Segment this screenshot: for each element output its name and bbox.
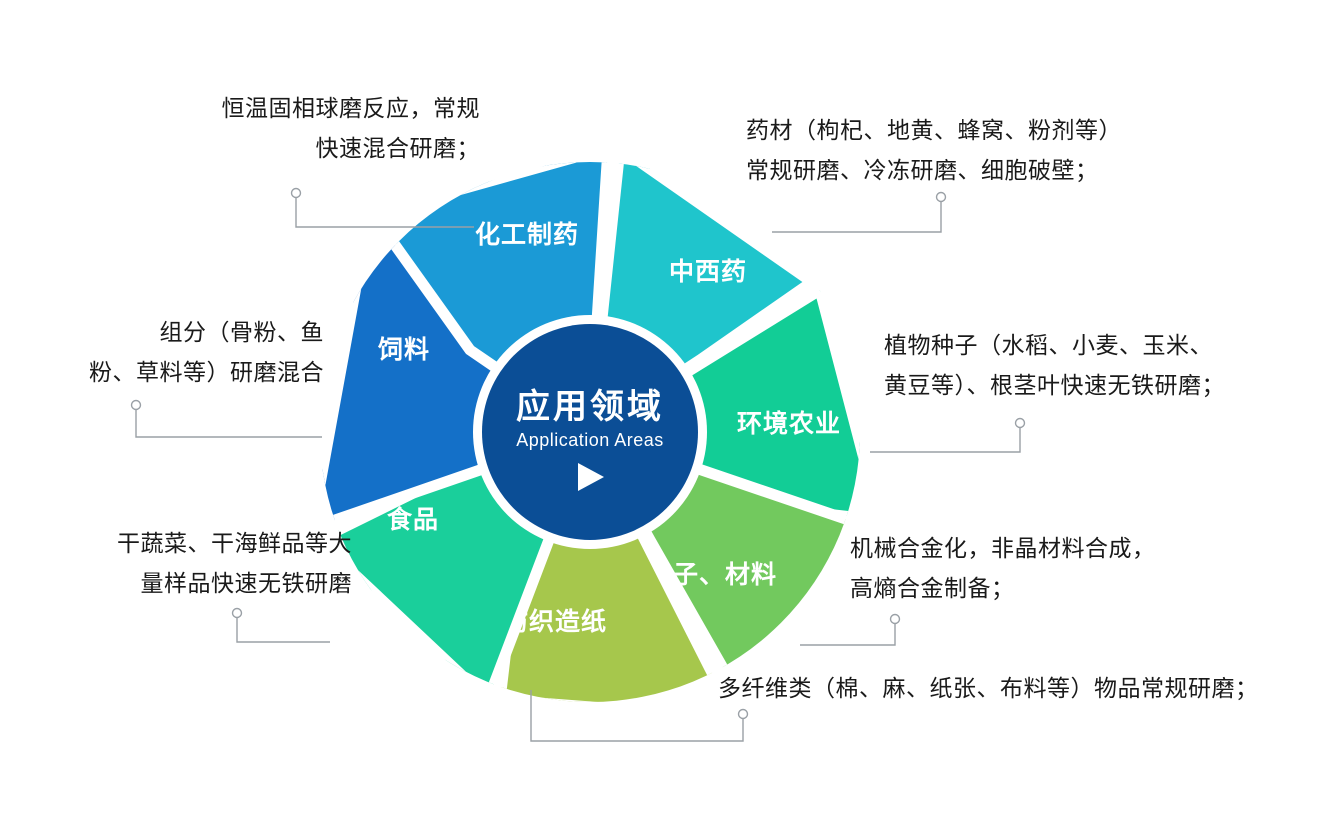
callout-feed: 组分（骨粉、鱼 粉、草料等）研磨混合	[24, 312, 324, 392]
hub-title-en: Application Areas	[516, 430, 664, 450]
callout-textile-papermaking: 多纤维类（棉、麻、纸张、布料等）物品常规研磨；	[718, 668, 1318, 708]
leader-dot-chemical-pharma	[292, 189, 301, 198]
leader-line-feed	[136, 409, 322, 437]
infographic-canvas: 化工制药 中西药 环境农业 电子、材料 纺织造纸	[0, 0, 1330, 824]
callout-electronics-materials: 机械合金化，非晶材料合成， 高熵合金制备；	[850, 528, 1250, 608]
leader-dot-food	[233, 609, 242, 618]
segment-label-tcm-western-medicine: 中西药	[669, 258, 747, 286]
leader-line-tcm-western-medicine	[772, 201, 941, 232]
leader-dot-environment-agriculture	[1016, 419, 1025, 428]
callout-environment-agriculture: 植物种子（水稻、小麦、玉米、 黄豆等）、根茎叶快速无铁研磨；	[884, 325, 1284, 405]
segment-label-food: 食品	[387, 505, 439, 534]
leader-line-environment-agriculture	[870, 427, 1020, 452]
hub[interactable]: 应用领域 Application Areas	[473, 315, 707, 549]
callout-tcm-western-medicine: 药材（枸杞、地黄、蜂窝、粉剂等） 常规研磨、冷冻研磨、细胞破壁；	[746, 110, 1176, 190]
hub-title-cn: 应用领域	[516, 388, 664, 426]
leader-dot-feed	[132, 401, 141, 410]
leader-line-electronics-materials	[800, 623, 895, 645]
callout-chemical-pharma: 恒温固相球磨反应，常规 快速混合研磨；	[120, 88, 480, 168]
segment-label-feed: 饲料	[377, 336, 430, 364]
callout-food: 干蔬菜、干海鲜品等大 量样品快速无铁研磨	[42, 523, 352, 603]
segment-label-chemical-pharma: 化工制药	[475, 221, 579, 249]
segment-label-environment-agriculture: 环境农业	[737, 409, 841, 438]
leader-dot-tcm-western-medicine	[937, 193, 946, 202]
leader-dot-electronics-materials	[891, 615, 900, 624]
leader-dot-textile-papermaking	[739, 710, 748, 719]
leader-line-food	[237, 617, 330, 642]
